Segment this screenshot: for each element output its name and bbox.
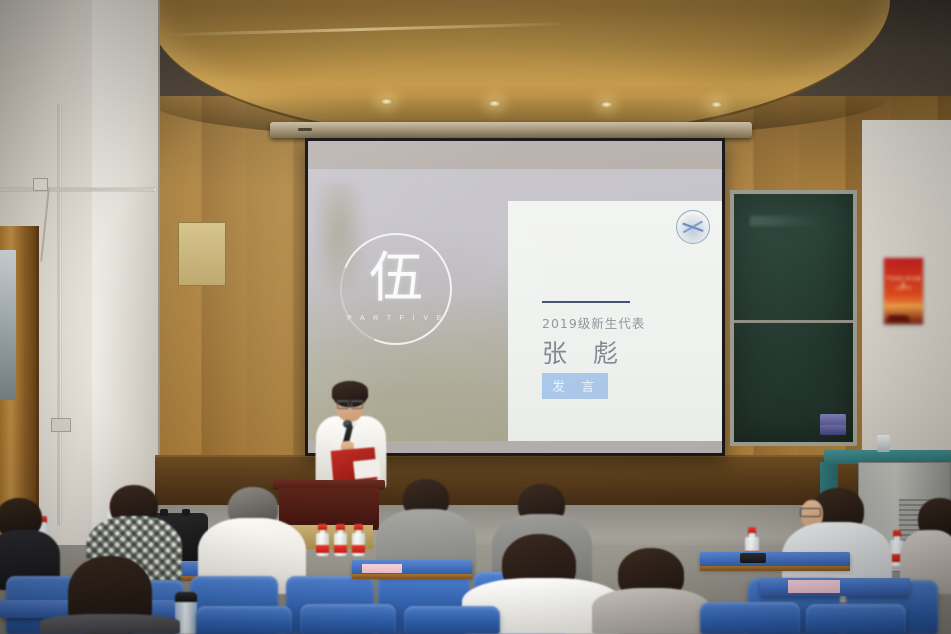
- tumbler-lid: [175, 592, 197, 602]
- door-glass: [0, 250, 16, 400]
- speech-paper: [353, 459, 381, 480]
- seal-inner-mark: [682, 216, 704, 238]
- screen-surface: 伍 P A R T F I V E 2019级新生代表 张 彪 发 言: [308, 141, 722, 453]
- emblem-subtitle: P A R T F I V E: [340, 315, 452, 322]
- downlight-icon: [710, 101, 723, 108]
- table-edge: [700, 566, 850, 571]
- torso: [592, 588, 710, 634]
- emblem-character: 伍: [340, 249, 452, 307]
- chalkboard: [730, 190, 857, 446]
- conduit-pipe-vertical: [58, 105, 61, 525]
- chalkboard-eraser[interactable]: [820, 425, 846, 435]
- table-paper: [362, 564, 402, 573]
- water-bottle[interactable]: [334, 524, 347, 556]
- table-edge: [352, 574, 472, 579]
- eyeglasses-icon: [800, 508, 821, 517]
- slide-speaker-name: 张 彪: [542, 334, 627, 370]
- case-latch: [182, 509, 190, 516]
- slide-subtitle: 2019级新生代表: [542, 313, 645, 332]
- chair[interactable]: [196, 606, 292, 634]
- chair[interactable]: [404, 606, 500, 634]
- water-bottle[interactable]: [316, 524, 329, 556]
- wall-notice-panel: [178, 222, 226, 286]
- chalkboard-divider: [734, 320, 853, 323]
- bottle-label: [352, 545, 365, 553]
- screen-roller-housing: [270, 122, 752, 138]
- projection-screen: 伍 P A R T F I V E 2019级新生代表 张 彪 发 言: [305, 138, 725, 456]
- bottle-label: [334, 545, 347, 553]
- chair[interactable]: [300, 604, 396, 634]
- phone-icon[interactable]: [740, 553, 766, 563]
- bottle-body: [352, 533, 365, 556]
- bottle-label: [316, 545, 329, 553]
- slide-accent-rule: [542, 301, 630, 303]
- speaker-hair: [332, 381, 368, 400]
- chalk-residue: [750, 216, 826, 226]
- downlight-icon: [380, 98, 393, 105]
- chair[interactable]: [700, 602, 800, 634]
- lecture-hall-photo: 伍 P A R T F I V E 2019级新生代表 张 彪 发 言 不忘初心…: [0, 0, 951, 634]
- water-bottle[interactable]: [352, 524, 365, 556]
- wall-socket: [51, 418, 71, 432]
- table-paper: [788, 580, 840, 593]
- junction-box: [33, 178, 48, 191]
- poster-subtitle: 主题教育: [884, 286, 923, 291]
- poster-artwork: [884, 304, 923, 324]
- eyeglasses-icon: [337, 400, 363, 407]
- downlight-icon: [600, 101, 613, 108]
- wall-poster: 不忘初心牢记使命 主题教育: [884, 258, 923, 324]
- part-five-emblem: 伍 P A R T F I V E: [340, 233, 452, 345]
- bottle-body: [334, 533, 347, 556]
- slide-white-panel: 2019级新生代表 张 彪 发 言: [508, 201, 722, 441]
- case-latch: [160, 509, 168, 516]
- slide-tag-badge: 发 言: [542, 373, 608, 399]
- conduit-pipe-horizontal: [0, 188, 156, 191]
- wall-speaker-icon: [877, 435, 890, 452]
- bottle-body: [316, 533, 329, 556]
- torso: [40, 614, 180, 634]
- downlight-icon: [488, 100, 501, 107]
- chair[interactable]: [806, 604, 906, 634]
- university-seal-icon: [676, 210, 710, 244]
- left-wall-column: [92, 0, 160, 560]
